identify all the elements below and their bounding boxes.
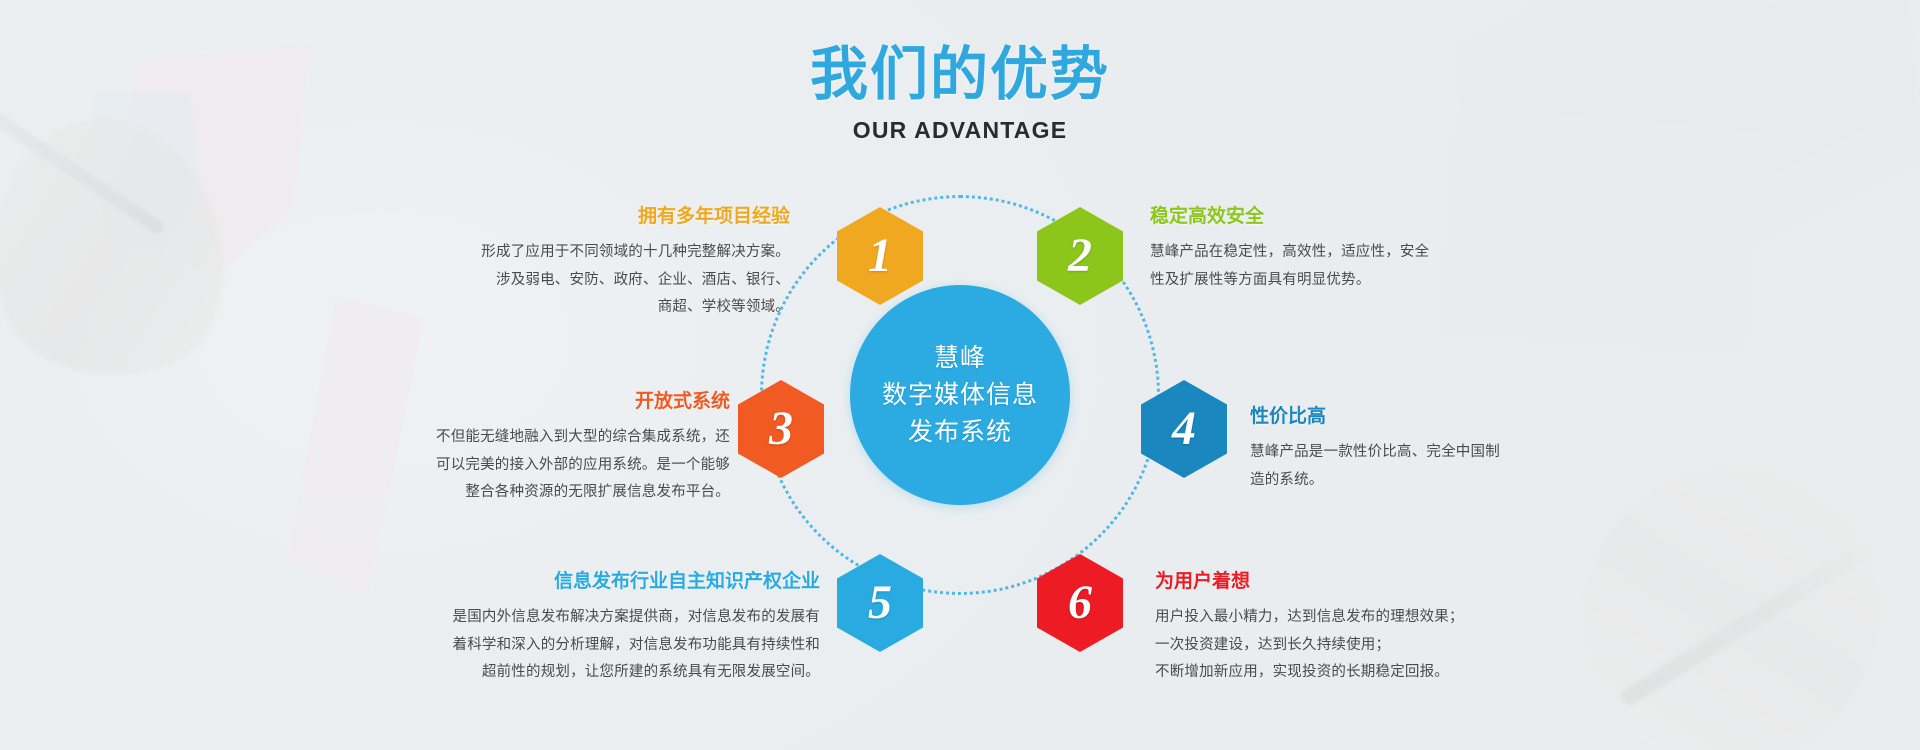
feature-body-3: 不但能无缝地融入到大型的综合集成系统，还可以完美的接入外部的应用系统。是一个能够… bbox=[330, 424, 730, 507]
feature-title-1: 拥有多年项目经验 bbox=[430, 205, 790, 230]
feature-title-2: 稳定高效安全 bbox=[1150, 205, 1530, 230]
feature-title-3: 开放式系统 bbox=[330, 390, 730, 415]
feature-body-line: 不但能无缝地融入到大型的综合集成系统，还 bbox=[330, 424, 730, 452]
feature-body-2: 慧峰产品在稳定性，高效性，适应性，安全性及扩展性等方面具有明显优势。 bbox=[1150, 239, 1530, 295]
center-line-2: 数字媒体信息 bbox=[882, 377, 1038, 414]
feature-title-5: 信息发布行业自主知识产权企业 bbox=[400, 570, 820, 595]
feature-block-4: 性价比高 慧峰产品是一款性价比高、完全中国制造的系统。 bbox=[1250, 405, 1610, 494]
feature-body-line: 慧峰产品在稳定性，高效性，适应性，安全 bbox=[1150, 239, 1530, 267]
badge-number-5: 5 bbox=[868, 579, 892, 627]
center-line-3: 发布系统 bbox=[908, 414, 1012, 451]
page-title-en: OUR ADVANTAGE bbox=[0, 117, 1920, 144]
feature-block-3: 开放式系统 不但能无缝地融入到大型的综合集成系统，还可以完美的接入外部的应用系统… bbox=[330, 390, 730, 507]
feature-block-5: 信息发布行业自主知识产权企业 是国内外信息发布解决方案提供商，对信息发布的发展有… bbox=[400, 570, 820, 687]
feature-body-line: 整合各种资源的无限扩展信息发布平台。 bbox=[330, 479, 730, 507]
page-title-cn: 我们的优势 bbox=[0, 44, 1920, 107]
badge-number-2: 2 bbox=[1068, 232, 1092, 280]
feature-body-line: 可以完美的接入外部的应用系统。是一个能够 bbox=[330, 452, 730, 480]
feature-body-line: 造的系统。 bbox=[1250, 467, 1610, 495]
feature-body-line: 着科学和深入的分析理解，对信息发布功能具有持续性和 bbox=[400, 632, 820, 660]
badge-number-3: 3 bbox=[769, 405, 793, 453]
center-circle: 慧峰 数字媒体信息 发布系统 bbox=[850, 285, 1070, 505]
feature-body-line: 涉及弱电、安防、政府、企业、酒店、银行、 bbox=[430, 267, 790, 295]
feature-body-line: 是国内外信息发布解决方案提供商，对信息发布的发展有 bbox=[400, 604, 820, 632]
feature-body-5: 是国内外信息发布解决方案提供商，对信息发布的发展有着科学和深入的分析理解，对信息… bbox=[400, 604, 820, 687]
feature-title-4: 性价比高 bbox=[1250, 405, 1610, 430]
feature-body-line: 形成了应用于不同领域的十几种完整解决方案。 bbox=[430, 239, 790, 267]
feature-body-line: 性及扩展性等方面具有明显优势。 bbox=[1150, 267, 1530, 295]
feature-title-6: 为用户着想 bbox=[1155, 570, 1555, 595]
feature-body-line: 不断增加新应用，实现投资的长期稳定回报。 bbox=[1155, 659, 1555, 687]
feature-body-4: 慧峰产品是一款性价比高、完全中国制造的系统。 bbox=[1250, 439, 1610, 495]
feature-block-2: 稳定高效安全 慧峰产品在稳定性，高效性，适应性，安全性及扩展性等方面具有明显优势… bbox=[1150, 205, 1530, 294]
feature-block-6: 为用户着想 用户投入最小精力，达到信息发布的理想效果；一次投资建设，达到长久持续… bbox=[1155, 570, 1555, 687]
advantage-section: 我们的优势 OUR ADVANTAGE 慧峰 数字媒体信息 发布系统 1 2 3… bbox=[0, 0, 1920, 750]
feature-body-line: 慧峰产品是一款性价比高、完全中国制 bbox=[1250, 439, 1610, 467]
center-line-1: 慧峰 bbox=[934, 340, 986, 377]
feature-body-line: 一次投资建设，达到长久持续使用； bbox=[1155, 632, 1555, 660]
section-heading: 我们的优势 OUR ADVANTAGE bbox=[0, 44, 1920, 144]
feature-body-1: 形成了应用于不同领域的十几种完整解决方案。涉及弱电、安防、政府、企业、酒店、银行… bbox=[430, 239, 790, 322]
badge-number-1: 1 bbox=[868, 232, 892, 280]
badge-number-4: 4 bbox=[1172, 405, 1196, 453]
feature-body-line: 商超、学校等领域。 bbox=[430, 294, 790, 322]
badge-number-6: 6 bbox=[1068, 579, 1092, 627]
feature-body-6: 用户投入最小精力，达到信息发布的理想效果；一次投资建设，达到长久持续使用；不断增… bbox=[1155, 604, 1555, 687]
feature-block-1: 拥有多年项目经验 形成了应用于不同领域的十几种完整解决方案。涉及弱电、安防、政府… bbox=[430, 205, 790, 322]
feature-body-line: 超前性的规划，让您所建的系统具有无限发展空间。 bbox=[400, 659, 820, 687]
feature-body-line: 用户投入最小精力，达到信息发布的理想效果； bbox=[1155, 604, 1555, 632]
